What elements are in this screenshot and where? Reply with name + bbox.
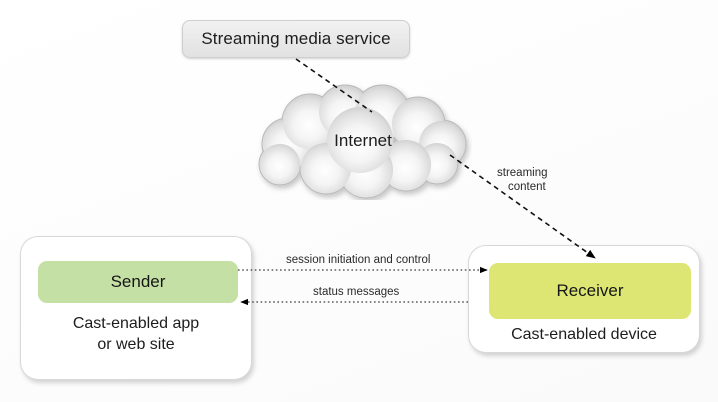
sender-chip[interactable]: Sender <box>38 261 238 303</box>
receiver-caption: Cast-enabled device <box>469 324 699 345</box>
receiver-chip[interactable]: Receiver <box>489 263 691 319</box>
streaming-content-label-line1: streaming <box>497 167 548 179</box>
streaming-content-label: streaming content <box>497 166 548 194</box>
sender-card[interactable]: Sender Cast-enabled app or web site <box>20 236 252 380</box>
status-connector-label: status messages <box>313 286 399 299</box>
sender-caption: Cast-enabled app or web site <box>21 313 251 355</box>
cloud-shape-icon <box>248 82 472 200</box>
sender-chip-label: Sender <box>111 272 166 292</box>
streaming-media-service-node[interactable]: Streaming media service <box>182 20 410 58</box>
sender-caption-line2: or web site <box>21 334 251 355</box>
receiver-chip-label: Receiver <box>556 281 623 301</box>
receiver-caption-line1: Cast-enabled device <box>469 324 699 345</box>
internet-cloud-node[interactable]: Internet <box>248 82 472 200</box>
sender-caption-line1: Cast-enabled app <box>21 313 251 334</box>
streaming-media-service-label: Streaming media service <box>201 29 390 49</box>
receiver-card[interactable]: Receiver Cast-enabled device <box>468 245 700 353</box>
session-connector-label: session initiation and control <box>286 254 430 267</box>
streaming-content-label-line2: content <box>497 180 548 194</box>
diagram-canvas: Streaming media service <box>0 0 718 402</box>
